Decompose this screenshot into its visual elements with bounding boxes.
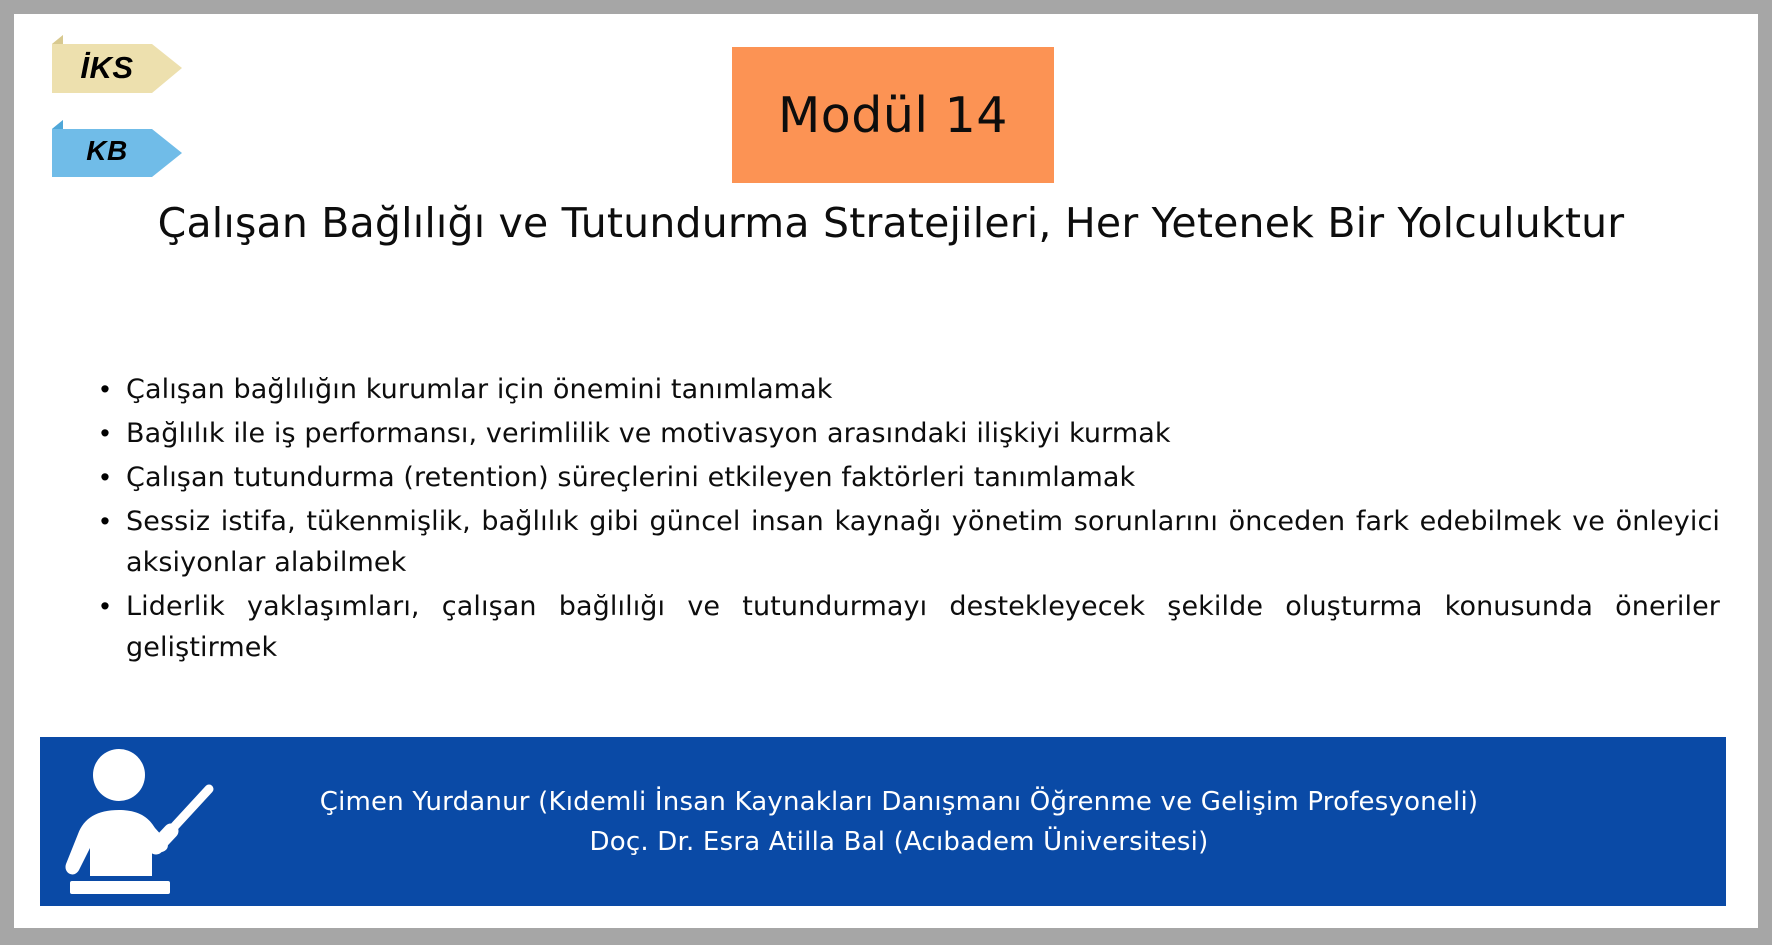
tag-banner-kb: KB (52, 120, 182, 182)
objective-text: Liderlik yaklaşımları, çalışan bağlılığı… (126, 586, 1724, 668)
presenter-line-2: Doç. Dr. Esra Atilla Bal (Acıbadem Ünive… (242, 822, 1556, 862)
bullet-icon: • (84, 457, 126, 498)
objective-item: • Çalışan bağlılığın kurumlar için önemi… (84, 369, 1724, 410)
tag-banner-kb-label: KB (86, 135, 147, 167)
bullet-icon: • (84, 586, 126, 627)
slide-frame: İKS KB Modül 14 Çalışan Bağlılığı ve Tut… (0, 0, 1772, 945)
presenter-bar: Çimen Yurdanur (Kıdemli İnsan Kaynakları… (40, 737, 1726, 906)
module-badge-label: Modül 14 (778, 87, 1008, 144)
module-badge: Modül 14 (732, 47, 1054, 183)
objective-text: Sessiz istifa, tükenmişlik, bağlılık gib… (126, 501, 1724, 583)
bullet-icon: • (84, 413, 126, 454)
objective-item: • Liderlik yaklaşımları, çalışan bağlılı… (84, 586, 1724, 668)
objective-text: Çalışan bağlılığın kurumlar için önemini… (126, 369, 1724, 410)
presenter-names: Çimen Yurdanur (Kıdemli İnsan Kaynakları… (242, 782, 1726, 862)
slide-title: Çalışan Bağlılığı ve Tutundurma Strateji… (76, 200, 1706, 247)
objectives-list: • Çalışan bağlılığın kurumlar için önemi… (84, 369, 1724, 671)
tag-banner-iks: İKS (52, 35, 182, 100)
teacher-pointer-icon-svg (52, 742, 242, 902)
bullet-icon: • (84, 501, 126, 542)
objective-item: • Sessiz istifa, tükenmişlik, bağlılık g… (84, 501, 1724, 583)
tag-banner-iks-label: İKS (80, 50, 153, 86)
slide-canvas: İKS KB Modül 14 Çalışan Bağlılığı ve Tut… (14, 14, 1758, 928)
presenter-line-1: Çimen Yurdanur (Kıdemli İnsan Kaynakları… (242, 782, 1556, 822)
bullet-icon: • (84, 369, 126, 410)
objective-item: • Çalışan tutundurma (retention) süreçle… (84, 457, 1724, 498)
objective-text: Çalışan tutundurma (retention) süreçleri… (126, 457, 1724, 498)
objective-item: • Bağlılık ile iş performansı, verimlili… (84, 413, 1724, 454)
objective-text: Bağlılık ile iş performansı, verimlilik … (126, 413, 1724, 454)
teacher-pointer-icon (52, 742, 242, 902)
